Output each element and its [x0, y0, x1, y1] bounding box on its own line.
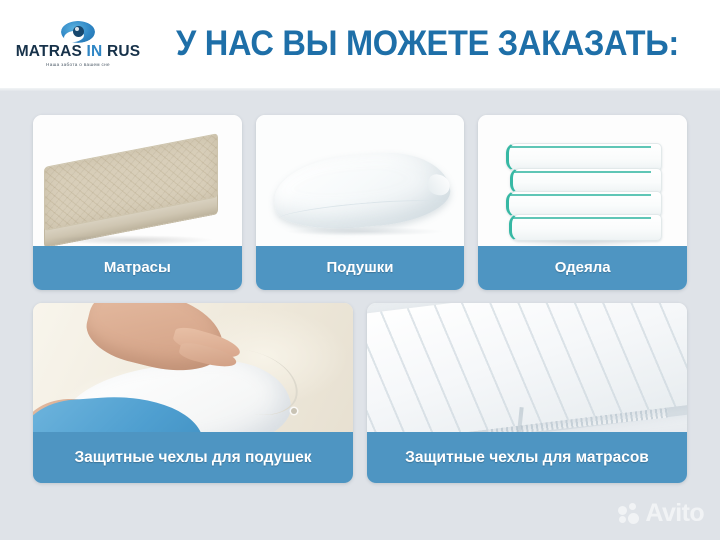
product-card-label: Матрасы	[33, 246, 242, 290]
product-card-pillow-covers[interactable]: Защитные чехлы для подушек	[33, 303, 353, 483]
product-card-mattress-covers[interactable]: Защитные чехлы для матрасов	[367, 303, 687, 483]
product-card-blankets[interactable]: Одеяла	[478, 115, 687, 290]
brand-logo[interactable]: MATRAS IN RUS Наша забота о вашем сне	[8, 21, 148, 67]
brand-name-part2: IN	[87, 43, 107, 60]
product-card-mattresses[interactable]: Матрасы	[33, 115, 242, 290]
brand-name: MATRAS IN RUS	[16, 44, 141, 60]
product-card-pillows[interactable]: Подушки	[256, 115, 465, 290]
page-title: У НАС ВЫ МОЖЕТЕ ЗАКАЗАТЬ:	[168, 24, 700, 64]
avito-watermark: Avito	[618, 501, 704, 526]
brand-name-part1: MATRAS	[16, 43, 87, 60]
brand-tagline: Наша забота о вашем сне	[46, 62, 110, 67]
page-header: MATRAS IN RUS Наша забота о вашем сне У …	[0, 0, 720, 88]
product-card-label: Одеяла	[478, 246, 687, 290]
product-grid-bottom: Защитные чехлы для подушек Защитные чехл…	[33, 303, 687, 483]
header-divider	[0, 88, 720, 91]
product-card-label: Подушки	[256, 246, 465, 290]
avito-wordmark: Avito	[645, 501, 704, 526]
eye-icon	[61, 21, 95, 43]
avito-dots-icon	[618, 503, 640, 525]
brand-name-part3: RUS	[107, 43, 140, 60]
product-grid-top: Матрасы Подушки Одеяла	[33, 115, 687, 290]
product-card-label: Защитные чехлы для подушек	[33, 432, 353, 483]
product-card-label: Защитные чехлы для матрасов	[367, 432, 687, 483]
